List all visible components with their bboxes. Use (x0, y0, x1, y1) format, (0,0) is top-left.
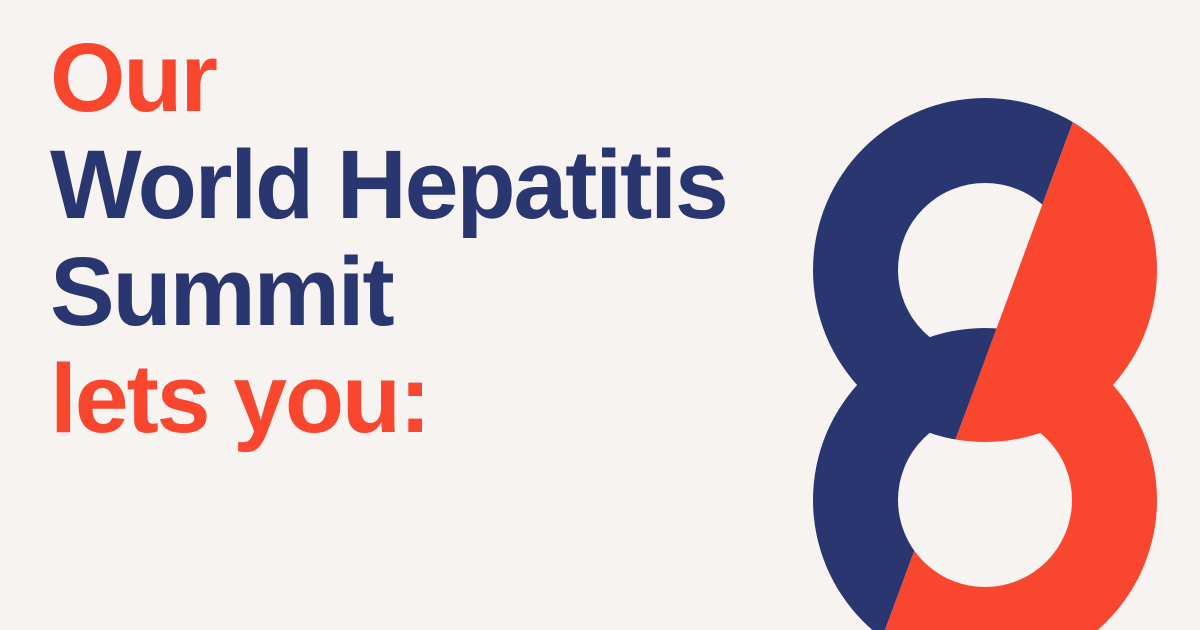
headline-line-3: Summit (50, 238, 810, 345)
headline-line-4: lets you: (50, 345, 810, 452)
monogram-icon (780, 0, 1200, 630)
headline-line-1: Our (50, 24, 810, 131)
promo-card: Our World Hepatitis Summit lets you: (0, 0, 1200, 630)
headline-line-2: World Hepatitis (50, 131, 810, 238)
brand-logo (780, 0, 1200, 630)
page-title: Our World Hepatitis Summit lets you: (50, 24, 810, 452)
